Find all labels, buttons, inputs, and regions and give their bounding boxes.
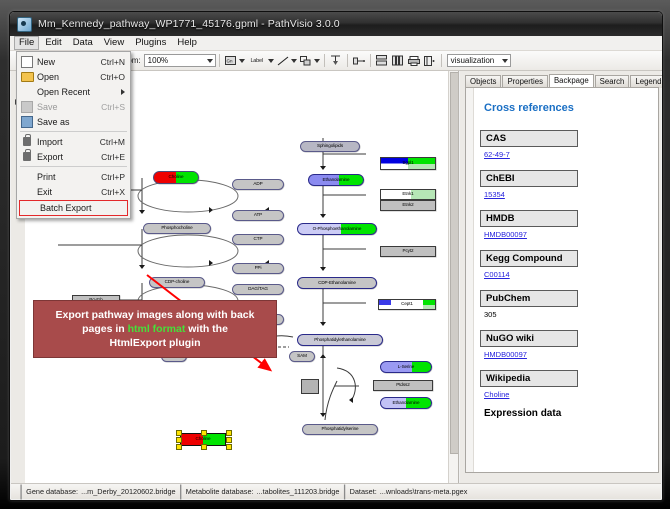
- xref-link[interactable]: 15354: [484, 190, 505, 199]
- node-label: Choline: [196, 437, 211, 442]
- visualization-combo[interactable]: visualization: [447, 54, 511, 67]
- menu-item-label: Open Recent: [37, 87, 130, 97]
- xref-link[interactable]: HMDB00097: [484, 230, 527, 239]
- export-icon: [17, 152, 37, 161]
- submenu-arrow-icon: [121, 89, 125, 95]
- chevron-down-icon: [207, 59, 213, 63]
- menu-item-save: Save Ctrl+S: [17, 99, 130, 114]
- node-cept1[interactable]: Cept1: [378, 299, 436, 310]
- arrowhead-up: [320, 354, 326, 358]
- cross-references-title: Cross references: [484, 102, 654, 114]
- resize-handle[interactable]: [176, 444, 182, 450]
- xref-value[interactable]: Choline: [484, 390, 654, 399]
- xref-cas: CAS 62-49-7: [480, 128, 654, 159]
- node-label: Phosphatidylserine: [321, 427, 358, 432]
- label-tool-icon[interactable]: Label: [247, 54, 267, 68]
- node-label: L-Serine: [398, 365, 415, 370]
- arrowhead-down: [320, 166, 326, 170]
- xref-chebi: ChEBI 15354: [480, 168, 654, 199]
- new-document-icon: [17, 56, 37, 68]
- align-icon[interactable]: [329, 54, 343, 68]
- status-metabolite-database-value: ...tabolites_111203.bridge: [257, 487, 340, 496]
- menu-item-label: Exit: [37, 187, 101, 197]
- xref-link[interactable]: C00114: [484, 270, 510, 279]
- interaction-anchor-box: [301, 379, 319, 394]
- resize-handle[interactable]: [176, 430, 182, 436]
- menu-item-open-recent[interactable]: Open Recent: [17, 84, 130, 99]
- annotation-callout: Export pathway images along with back pa…: [33, 300, 277, 358]
- xref-pubchem: PubChem 305: [480, 288, 654, 319]
- import-icon: [17, 137, 37, 146]
- arrowhead-down: [320, 413, 326, 417]
- shape-dropdown-icon[interactable]: [314, 54, 321, 68]
- datanode-dropdown-icon[interactable]: [239, 54, 246, 68]
- order-icon[interactable]: [352, 54, 366, 68]
- menu-item-label: Open: [37, 72, 100, 82]
- node-label: Phosphocholine: [161, 226, 192, 231]
- backpage-scrollbar[interactable]: [466, 88, 474, 472]
- node-label: Cept1: [401, 302, 413, 307]
- xref-name: HMDB: [480, 210, 578, 227]
- line-dropdown-icon[interactable]: [291, 54, 298, 68]
- annotation-highlight: html format: [128, 323, 186, 335]
- menu-item-save-as[interactable]: Save as: [17, 114, 130, 129]
- node-etnk2[interactable]: Etnk2: [380, 200, 436, 211]
- menu-item-exit[interactable]: Exit Ctrl+X: [17, 184, 130, 199]
- title-bar: Mm_Kennedy_pathway_WP1771_45176.gpml - P…: [10, 12, 662, 37]
- xref-name: ChEBI: [480, 170, 578, 187]
- status-metabolite-database-label: Metabolite database:: [186, 487, 254, 496]
- menu-view[interactable]: View: [99, 36, 129, 50]
- menu-item-label: Export: [37, 152, 101, 162]
- menu-item-label: New: [37, 57, 101, 67]
- status-divider-3: |: [342, 483, 346, 501]
- menu-item-accel: Ctrl+S: [101, 102, 130, 112]
- menu-item-accel: Ctrl+N: [101, 57, 130, 67]
- toolbar-separator-3: [347, 54, 348, 67]
- node-pcyt2[interactable]: Pcyt2: [380, 246, 436, 257]
- desktop-background: Mm_Kennedy_pathway_WP1771_45176.gpml - P…: [0, 0, 670, 509]
- node-ethanolamine-top[interactable]: Ethanolamine: [308, 174, 364, 186]
- xref-wikipedia: Wikipedia Choline: [480, 368, 654, 399]
- xref-nugo-wiki: NuGO wiki HMDB00097: [480, 328, 654, 359]
- resize-handle[interactable]: [176, 437, 182, 443]
- toolbar-separator-5: [441, 54, 442, 67]
- xref-value[interactable]: 62-49-7: [484, 150, 654, 159]
- xref-name: PubChem: [480, 290, 578, 307]
- menu-item-label: Import: [37, 137, 100, 147]
- status-gene-database-value: ...m_Derby_20120602.bridge: [81, 487, 176, 496]
- visualization-chevron-down-icon: [502, 59, 508, 63]
- canvas-vertical-scrollbar[interactable]: [448, 71, 458, 483]
- side-panel: Objects Properties Backpage Search Legen…: [460, 71, 661, 483]
- label-tool-text: Label: [250, 58, 262, 64]
- node-label: Ptdss2: [396, 383, 409, 388]
- node-ethanolamine-bottom[interactable]: Ethanolamine: [380, 397, 432, 409]
- node-choline-top[interactable]: Choline: [153, 171, 199, 184]
- pathvisio-icon: [17, 17, 32, 32]
- menu-item-label: Save: [37, 102, 101, 112]
- xref-link[interactable]: 62-49-7: [484, 150, 510, 159]
- node-o-phosphoethanolamine[interactable]: O-Phosphoethanolamine: [297, 223, 377, 235]
- node-label: CTP: [254, 237, 263, 242]
- menu-item-label: Batch Export: [40, 203, 127, 213]
- node-phosphocholine[interactable]: Phosphocholine: [143, 223, 211, 234]
- toolbar-separator: [219, 54, 220, 67]
- zoom-value: 100%: [148, 56, 168, 65]
- xref-value[interactable]: 15354: [484, 190, 654, 199]
- resize-handle[interactable]: [226, 437, 232, 443]
- annotation-line-2: pages in html format with the: [82, 322, 228, 336]
- xref-value[interactable]: HMDB00097: [484, 230, 654, 239]
- file-menu-dropdown[interactable]: New Ctrl+N Open Ctrl+O Open Recent Save …: [16, 51, 131, 219]
- menu-item-accel: Ctrl+X: [101, 187, 130, 197]
- xref-name: CAS: [480, 130, 578, 147]
- status-gene-database-label: Gene database:: [26, 487, 78, 496]
- resize-handle[interactable]: [201, 430, 207, 436]
- menu-item-label: Print: [37, 172, 101, 182]
- datanode-icon[interactable]: Gn: [224, 54, 238, 68]
- shape-icon[interactable]: [299, 54, 313, 68]
- menu-item-accel: Ctrl+M: [100, 137, 130, 147]
- print-icon[interactable]: [407, 54, 421, 68]
- arrowhead-right: [209, 260, 213, 266]
- xref-value: 305: [484, 310, 654, 319]
- xref-value[interactable]: HMDB00097: [484, 350, 654, 359]
- xref-kegg-compound: Kegg Compound C00114: [480, 248, 654, 279]
- node-etnk1[interactable]: Etnk1: [380, 189, 436, 200]
- menu-separator-2: [20, 166, 127, 167]
- label-dropdown-icon[interactable]: [268, 54, 275, 68]
- annotation-line-3: HtmlExport plugin: [110, 336, 201, 350]
- annotation-line-1: Export pathway images along with back: [56, 308, 255, 322]
- window-title: Mm_Kennedy_pathway_WP1771_45176.gpml - P…: [38, 18, 340, 30]
- resize-handle[interactable]: [201, 444, 207, 450]
- node-sgpl1[interactable]: Sgpl1: [380, 157, 436, 170]
- toolbar-separator-4: [370, 54, 371, 67]
- zoom-combo[interactable]: 100%: [144, 54, 216, 67]
- arrowhead-down: [139, 265, 145, 269]
- arrowhead-down: [320, 322, 326, 326]
- xref-link[interactable]: HMDB00097: [484, 350, 527, 359]
- tab-backpage[interactable]: Backpage: [549, 74, 594, 88]
- arrowhead-down: [320, 214, 326, 218]
- xref-name: NuGO wiki: [480, 330, 578, 347]
- resize-handle[interactable]: [226, 444, 232, 450]
- node-label: Pcyt2: [403, 249, 414, 254]
- xref-name: Wikipedia: [480, 370, 578, 387]
- arrowhead-right: [209, 207, 213, 213]
- menu-help[interactable]: Help: [172, 36, 202, 50]
- node-label: O-Phosphoethanolamine: [313, 227, 362, 232]
- status-divider-2: |: [179, 483, 183, 501]
- selected-node-choline[interactable]: Choline: [176, 429, 230, 450]
- node-label: Etnk1: [402, 192, 413, 197]
- status-dataset-value: ...wnloads\trans-meta.pgex: [380, 487, 468, 496]
- node-label: Etnk2: [402, 203, 413, 208]
- backpage-content: Cross references CAS 62-49-7 ChEBI 15354…: [474, 88, 659, 473]
- save-as-icon: [17, 116, 37, 128]
- arrowhead-down: [139, 210, 145, 214]
- xref-hmdb: HMDB HMDB00097: [480, 208, 654, 239]
- menu-item-print[interactable]: Print Ctrl+P: [17, 169, 130, 184]
- stack-icon[interactable]: [391, 54, 405, 68]
- menu-item-open[interactable]: Open Ctrl+O: [17, 69, 130, 84]
- menu-item-label: Save as: [37, 117, 125, 127]
- menu-item-accel: Ctrl+E: [101, 152, 130, 162]
- node-label: ATP: [254, 213, 262, 218]
- node-label: Sphingolipids: [317, 144, 343, 149]
- menu-bar: File Edit Data View Plugins Help: [10, 36, 662, 51]
- node-label: Sgpl1: [402, 161, 413, 166]
- application-window: Mm_Kennedy_pathway_WP1771_45176.gpml - P…: [9, 11, 663, 501]
- status-dataset-label: Dataset:: [350, 487, 377, 496]
- svg-text:Gn: Gn: [227, 59, 234, 64]
- open-folder-icon: [17, 72, 37, 82]
- annotation-line-2b: with the: [185, 323, 228, 335]
- visualization-value: visualization: [451, 56, 495, 65]
- node-label: ADP: [253, 182, 262, 187]
- menu-plugins[interactable]: Plugins: [130, 36, 171, 50]
- menu-item-import[interactable]: Import Ctrl+M: [17, 134, 130, 149]
- node-label: CDP-Ethanolamine: [318, 281, 356, 286]
- node-label: Phosphatidylethanolamine: [314, 338, 366, 343]
- backpage-panel: Cross references CAS 62-49-7 ChEBI 15354…: [465, 87, 659, 473]
- status-bar: | Gene database: ...m_Derby_20120602.bri…: [11, 483, 661, 499]
- group-icon[interactable]: [375, 54, 389, 68]
- node-label: Choline: [169, 175, 184, 180]
- node-ptdss2[interactable]: Ptdss2: [373, 380, 433, 391]
- node-adp[interactable]: ADP: [232, 179, 284, 190]
- menu-item-accel: Ctrl+O: [100, 72, 130, 82]
- save-icon: [17, 101, 37, 113]
- sidebar-icon[interactable]: [423, 54, 437, 68]
- node-l-serine[interactable]: L-Serine: [380, 361, 432, 373]
- status-divider: |: [19, 483, 23, 501]
- menu-file[interactable]: File: [14, 36, 39, 50]
- xref-name: Kegg Compound: [480, 250, 578, 267]
- menu-edit[interactable]: Edit: [40, 36, 66, 50]
- node-ctp[interactable]: CTP: [232, 234, 284, 245]
- menu-data[interactable]: Data: [68, 36, 98, 50]
- scrollbar-thumb[interactable]: [450, 72, 459, 454]
- xref-value[interactable]: C00114: [484, 270, 654, 279]
- node-phosphatidylserine[interactable]: Phosphatidylserine: [302, 424, 378, 435]
- menu-item-export[interactable]: Export Ctrl+E: [17, 149, 130, 164]
- resize-handle[interactable]: [226, 430, 232, 436]
- line-icon[interactable]: [276, 54, 290, 68]
- expression-data-title: Expression data: [484, 408, 654, 419]
- annotation-line-2a: pages in: [82, 323, 128, 335]
- menu-item-batch-export[interactable]: Batch Export: [19, 200, 128, 216]
- node-atp[interactable]: ATP: [232, 210, 284, 221]
- xref-link[interactable]: Choline: [484, 390, 509, 399]
- menu-item-new[interactable]: New Ctrl+N: [17, 54, 130, 69]
- toolbar-separator-2: [324, 54, 325, 67]
- arrowhead-left: [349, 397, 353, 403]
- arrowhead-down: [320, 267, 326, 271]
- node-label: Ethanolamine: [393, 401, 420, 406]
- menu-item-accel: Ctrl+P: [101, 172, 130, 182]
- menu-separator: [20, 131, 127, 132]
- node-sphingolipids[interactable]: Sphingolipids: [300, 141, 360, 152]
- node-label: Ethanolamine: [323, 178, 350, 183]
